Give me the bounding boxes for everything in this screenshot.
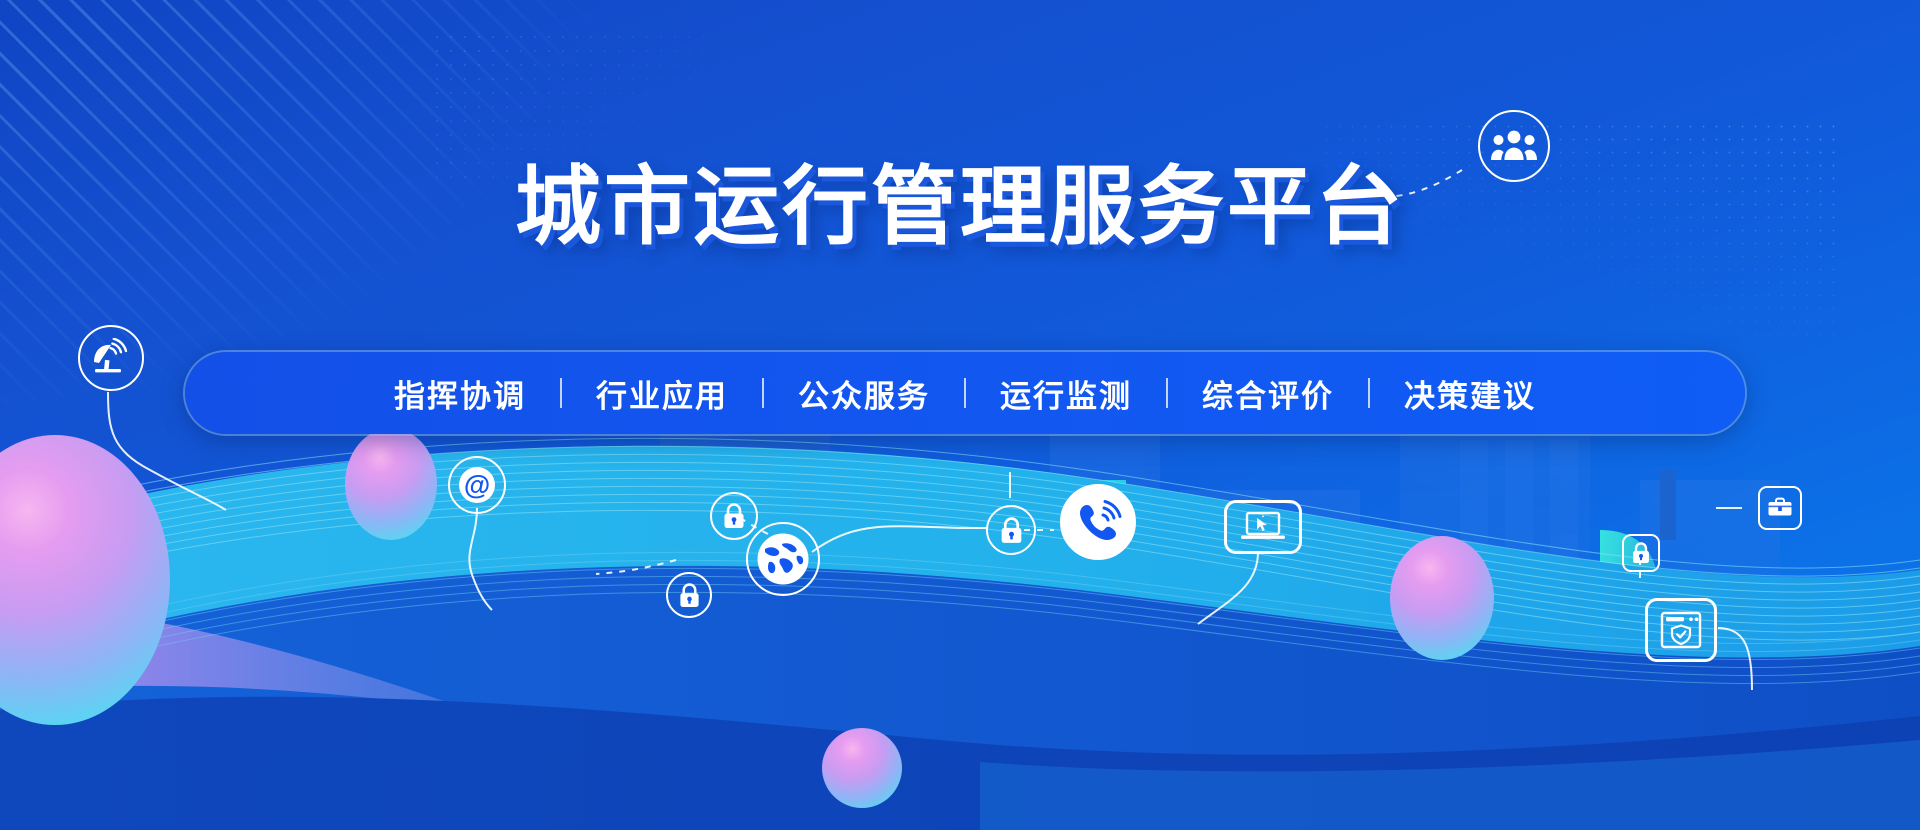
phone-call-icon[interactable] (1060, 484, 1136, 560)
banner-title-wrapper: 城市运行管理服务平台 (0, 136, 1920, 261)
nav-item-2[interactable]: 行业应用 (562, 371, 762, 416)
lock-icon-2[interactable] (666, 572, 712, 618)
globe-glyph (756, 532, 810, 586)
nav-item-5[interactable]: 综合评价 (1168, 371, 1368, 416)
satellite-dish-glyph (90, 338, 132, 378)
page-title: 城市运行管理服务平台 (515, 136, 1405, 261)
lock-icon-3[interactable] (986, 505, 1036, 555)
lock-glyph-4 (1631, 541, 1651, 565)
city-platform-banner: @ (0, 0, 1920, 830)
nav-item-1[interactable]: 指挥协调 (360, 371, 560, 416)
nav-item-4[interactable]: 运行监测 (966, 371, 1166, 416)
lock-glyph-2 (678, 582, 701, 609)
svg-text:@: @ (464, 470, 490, 500)
laptop-cursor-icon[interactable] (1224, 500, 1302, 554)
globe-icon[interactable] (746, 522, 820, 596)
satellite-dish-icon[interactable] (78, 325, 144, 391)
lock-icon-1[interactable] (710, 492, 758, 540)
browser-shield-icon[interactable] (1645, 598, 1717, 662)
nav-item-list: 指挥协调行业应用公众服务运行监测综合评价决策建议 (360, 371, 1570, 416)
nav-item-3[interactable]: 公众服务 (764, 371, 964, 416)
at-sign-glyph: @ (457, 465, 497, 505)
laptop-cursor-glyph (1238, 510, 1288, 544)
lock-icon-4[interactable] (1622, 534, 1660, 572)
at-sign-icon[interactable]: @ (448, 456, 506, 514)
lock-glyph-1 (722, 502, 746, 530)
briefcase-glyph (1766, 495, 1794, 521)
phone-call-glyph (1074, 498, 1122, 546)
briefcase-icon[interactable] (1758, 486, 1802, 530)
browser-shield-glyph (1657, 609, 1705, 651)
primary-nav-pill: 指挥协调行业应用公众服务运行监测综合评价决策建议 (185, 352, 1745, 434)
nav-item-6[interactable]: 决策建议 (1370, 371, 1570, 416)
lock-glyph-3 (999, 516, 1024, 545)
